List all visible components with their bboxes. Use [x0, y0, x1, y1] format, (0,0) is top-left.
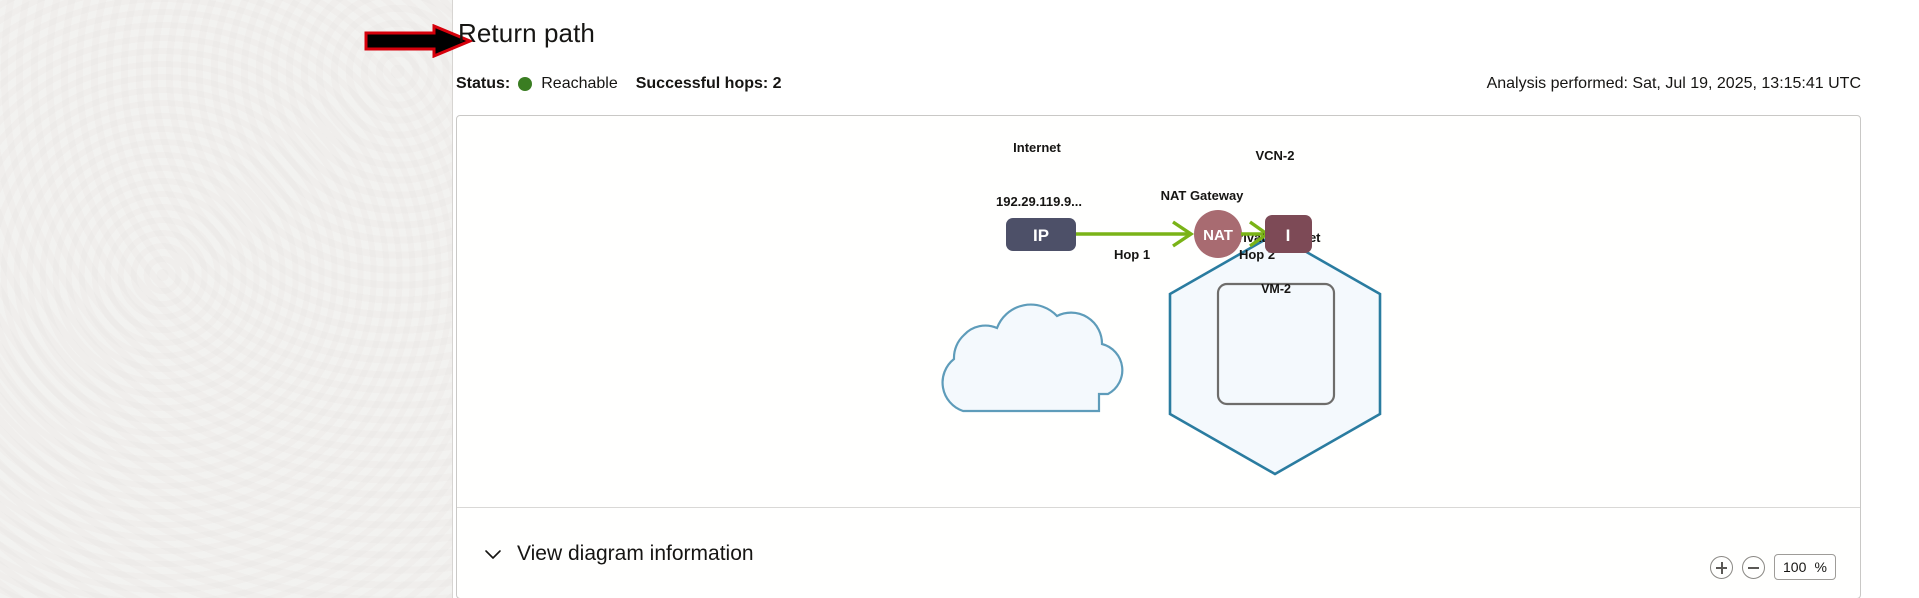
successful-hops-label: Successful hops: 2: [636, 75, 782, 93]
nat-gateway-label: NAT Gateway: [1161, 188, 1245, 203]
status-summary: Status: Reachable Successful hops: 2: [456, 75, 782, 93]
page-title: Return path: [458, 18, 595, 49]
diagram-card: VCN-2 Private Subnet VM-2 Internet 192.2…: [456, 115, 1861, 598]
vcn-label: VCN-2: [1255, 148, 1294, 163]
page-root: Return path Status: Reachable Successful…: [0, 0, 1919, 598]
internet-cloud[interactable]: Internet 192.29.119.9...: [943, 140, 1123, 411]
main-content: Return path Status: Reachable Successful…: [454, 0, 1919, 598]
ip-node[interactable]: IP: [1006, 218, 1076, 251]
vm-label: VM-2: [1261, 282, 1291, 296]
status-label: Status:: [456, 75, 510, 93]
status-indicator-dot: [518, 77, 532, 91]
network-path-diagram: VCN-2 Private Subnet VM-2 Internet 192.2…: [457, 116, 1860, 507]
analysis-timestamp: Analysis performed: Sat, Jul 19, 2025, 1…: [1487, 75, 1861, 93]
internet-ip-address: 192.29.119.9...: [996, 194, 1082, 209]
internet-label: Internet: [1013, 140, 1061, 155]
chevron-down-icon: [483, 544, 503, 564]
accordion-label: View diagram information: [517, 542, 754, 566]
vm-node-label: I: [1286, 226, 1291, 245]
status-row: Status: Reachable Successful hops: 2 Ana…: [456, 75, 1861, 93]
ip-node-label: IP: [1033, 226, 1049, 245]
view-diagram-information-toggle[interactable]: View diagram information: [457, 508, 1860, 598]
status-value: Reachable: [541, 75, 618, 93]
vm-node[interactable]: I: [1265, 215, 1312, 253]
hop-1-label: Hop 1: [1114, 247, 1150, 262]
hop-1-connector: Hop 1: [1076, 222, 1191, 262]
left-background-panel: [0, 0, 453, 598]
diagram-canvas[interactable]: VCN-2 Private Subnet VM-2 Internet 192.2…: [457, 116, 1860, 507]
nat-node-label: NAT: [1203, 227, 1233, 244]
